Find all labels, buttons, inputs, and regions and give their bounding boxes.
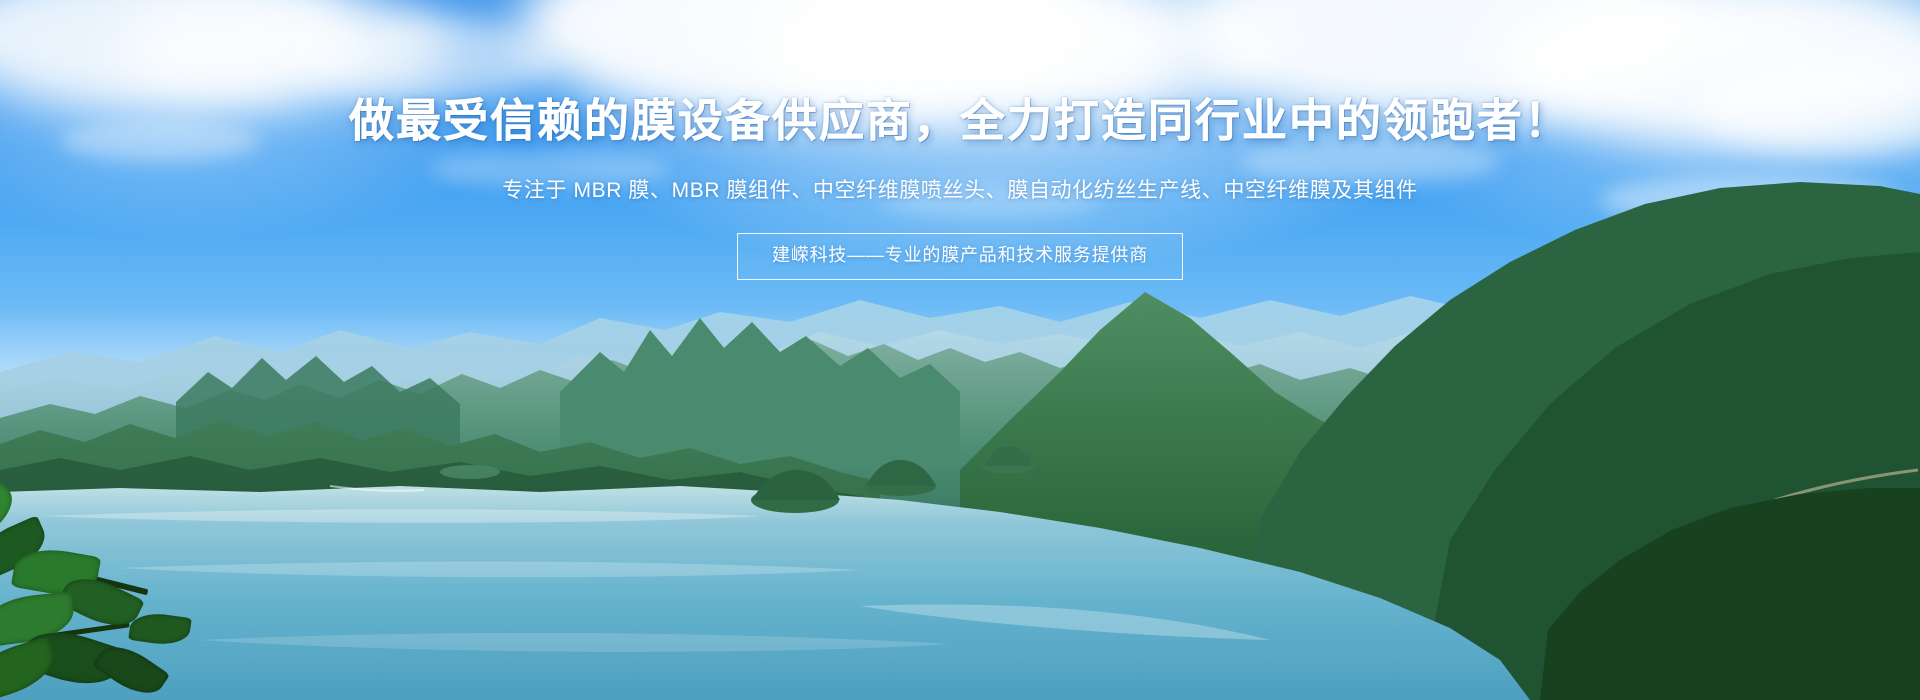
banner-tagline-box: 建嵘科技——专业的膜产品和技术服务提供商 bbox=[737, 233, 1183, 280]
banner-headline: 做最受信赖的膜设备供应商，全力打造同行业中的领跑者！ bbox=[0, 0, 1920, 147]
hero-banner: 做最受信赖的膜设备供应商，全力打造同行业中的领跑者！ 专注于 MBR 膜、MBR… bbox=[0, 0, 1920, 700]
banner-tagline-wrapper: 建嵘科技——专业的膜产品和技术服务提供商 bbox=[0, 206, 1920, 280]
banner-text-block: 做最受信赖的膜设备供应商，全力打造同行业中的领跑者！ 专注于 MBR 膜、MBR… bbox=[0, 0, 1920, 280]
banner-subheadline: 专注于 MBR 膜、MBR 膜组件、中空纤维膜喷丝头、膜自动化纺丝生产线、中空纤… bbox=[0, 147, 1920, 207]
